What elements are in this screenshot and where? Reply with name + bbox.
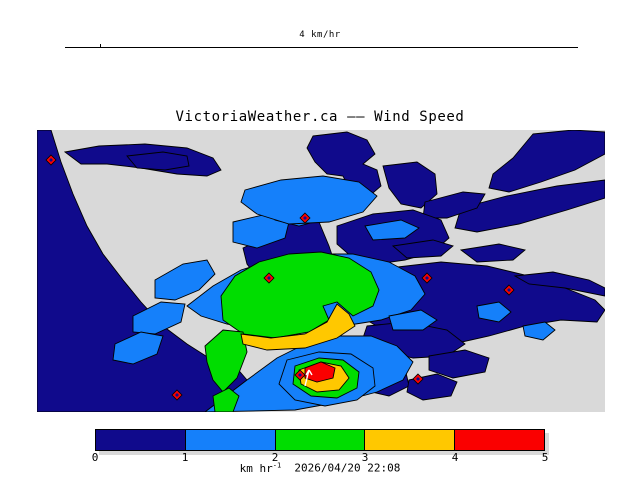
wind-scale-tick: [100, 44, 101, 47]
wind-vector-scale: 4 km/hr: [0, 30, 640, 60]
colorbar-timestamp-spacer: [281, 462, 294, 475]
colorbar-segment-1-2: [185, 430, 275, 450]
colorbar-segment-0-1: [96, 430, 185, 450]
colorbar-segment-3-4: [364, 430, 454, 450]
colorbar-units: km hr-1: [240, 462, 282, 475]
colorbar-caption: km hr-1 2026/04/20 22:08: [0, 461, 640, 475]
wind-scale-label: 4 km/hr: [0, 30, 640, 40]
colorbar: [95, 429, 545, 451]
colorbar-segment-4-5: [454, 430, 544, 450]
colorbar-timestamp: 2026/04/20 22:08: [294, 462, 400, 475]
colorbar-segments: [95, 429, 545, 451]
wind-scale-rule: [65, 47, 578, 48]
weather-map-svg: [37, 130, 605, 412]
colorbar-segment-2-3: [275, 430, 365, 450]
inlet-northwest-lobe: [127, 152, 189, 170]
weather-map-panel[interactable]: [37, 130, 605, 412]
colorbar-units-exponent: -1: [273, 461, 281, 469]
page-title: VictoriaWeather.ca —— Wind Speed: [0, 109, 640, 125]
